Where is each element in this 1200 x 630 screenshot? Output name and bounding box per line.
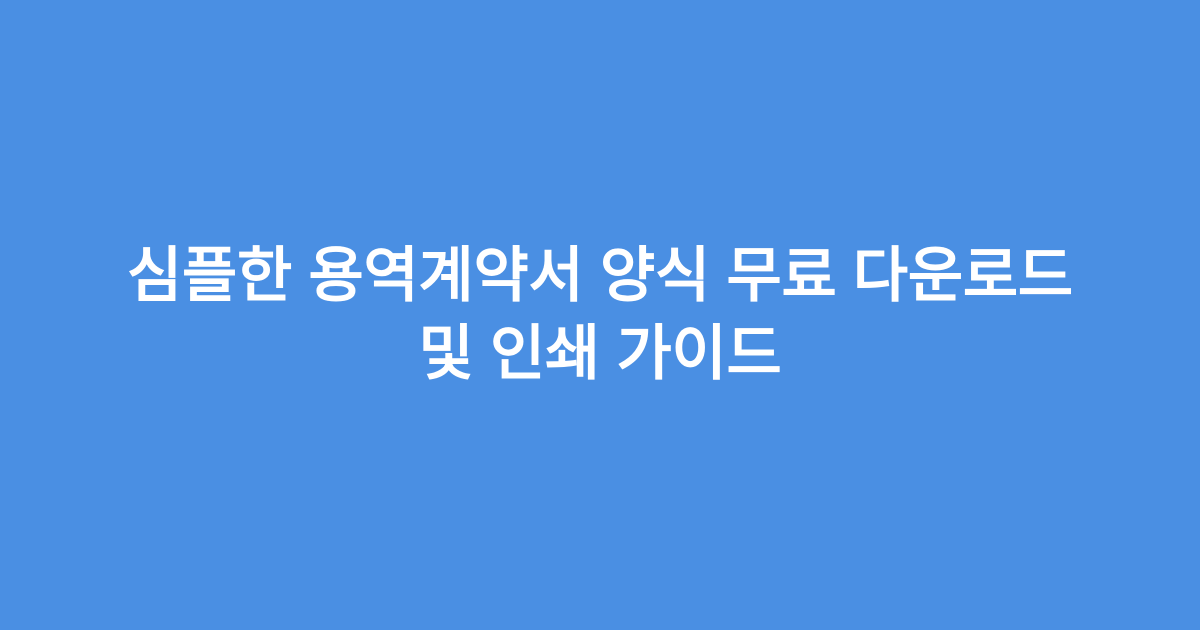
page-title-line-1: 심플한 용역계약서 양식 무료 다운로드	[50, 237, 1150, 315]
page-title: 심플한 용역계약서 양식 무료 다운로드 및 인쇄 가이드	[50, 237, 1150, 393]
banner-card: 심플한 용역계약서 양식 무료 다운로드 및 인쇄 가이드	[0, 0, 1200, 630]
page-title-line-2: 및 인쇄 가이드	[50, 315, 1150, 393]
